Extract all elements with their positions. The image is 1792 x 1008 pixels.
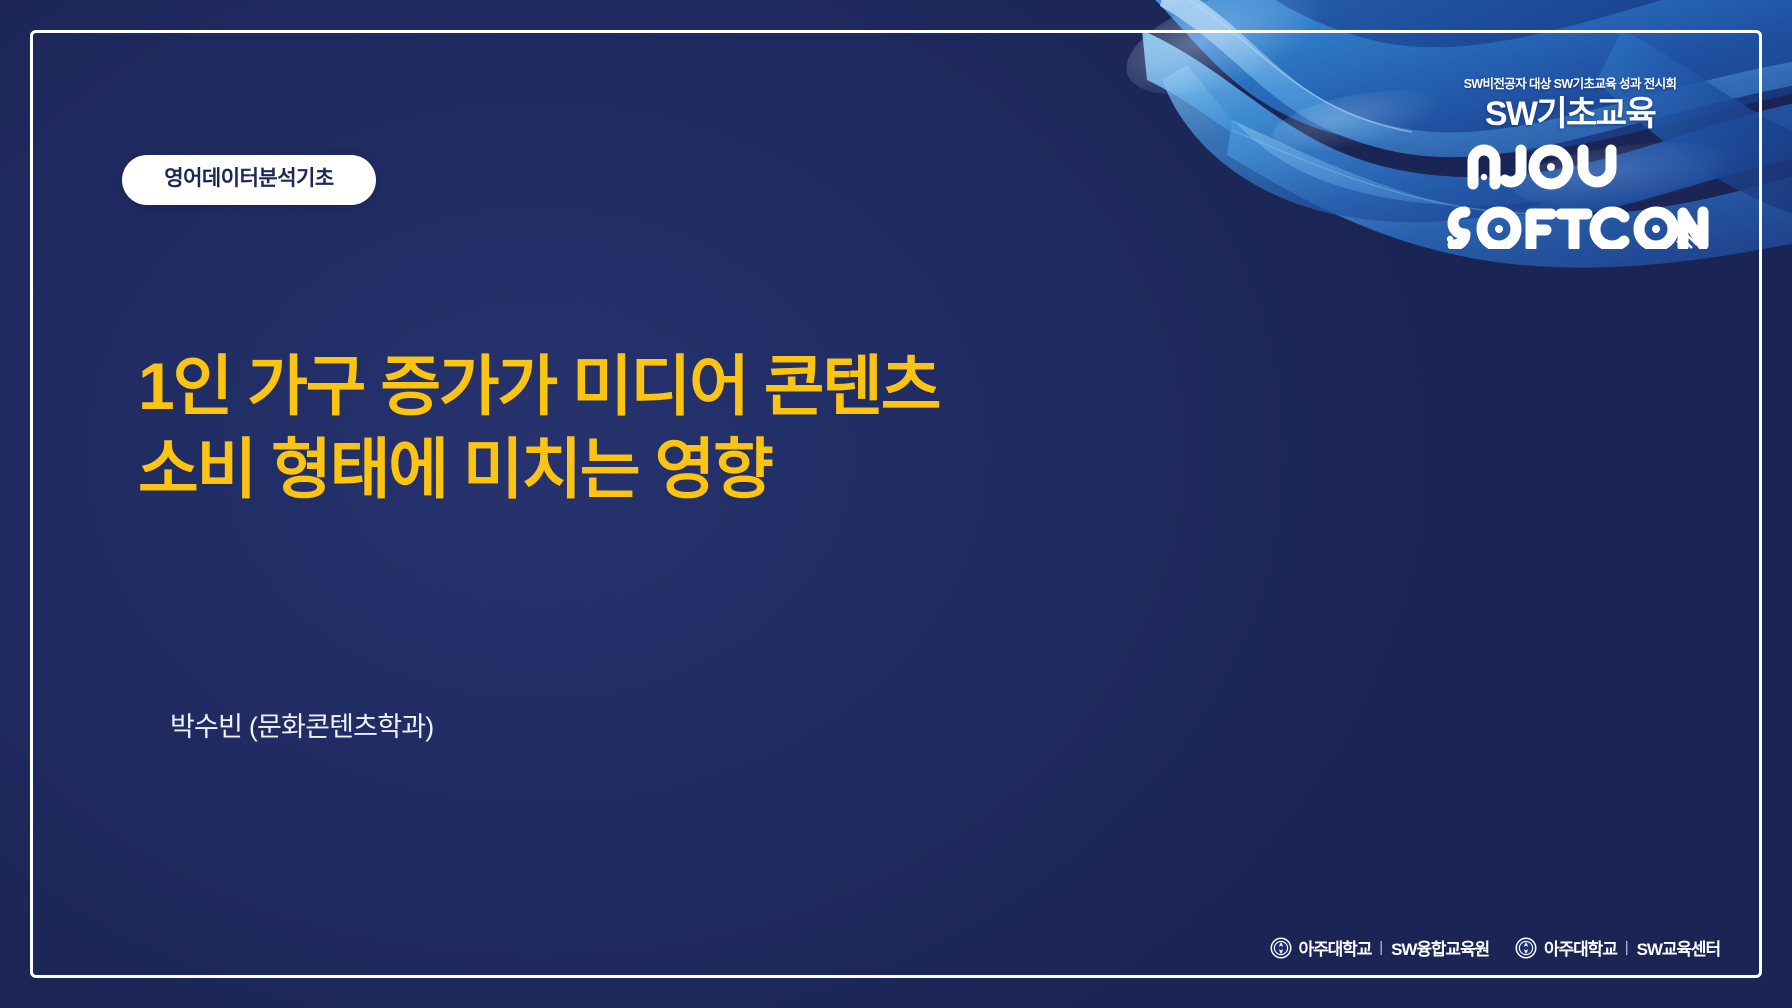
- title-line-2: 소비 형태에 미치는 영향: [138, 428, 1288, 511]
- partner-university-name: 아주대학교: [1299, 935, 1372, 960]
- partner-unit-name: SW융합교육원: [1391, 935, 1489, 960]
- partner-university-name: 아주대학교: [1544, 935, 1617, 960]
- course-name-label: 영어데이터분석기초: [152, 168, 346, 189]
- event-program-name: SW기초교육: [1420, 97, 1720, 133]
- ajou-softcon-wordmark: [1420, 134, 1720, 249]
- author-name: 박수빈 (문화콘텐츠학과): [170, 705, 433, 744]
- wordmark-graphic: [1425, 134, 1715, 249]
- ajou-university-crest-icon: [1270, 937, 1292, 959]
- presentation-slide: 영어데이터분석기초 1인 가구 증가가 미디어 콘텐츠 소비 형태에 미치는 영…: [0, 0, 1792, 1008]
- partner-logo-sw-education-center: 아주대학교 | SW교육센터: [1515, 935, 1720, 960]
- partner-separator: |: [1625, 939, 1629, 956]
- page-title: 1인 가구 증가가 미디어 콘텐츠 소비 형태에 미치는 영향: [138, 345, 1288, 511]
- softcon-logo-lockup: SW비전공자 대상 SW기초교육 성과 전시회 SW기초교육: [1420, 78, 1720, 249]
- course-name-badge: 영어데이터분석기초: [122, 155, 376, 205]
- event-tagline: SW비전공자 대상 SW기초교육 성과 전시회: [1420, 78, 1720, 92]
- footer-partner-logos: 아주대학교 | SW융합교육원 아주대학교 | SW교육센터: [1270, 935, 1720, 960]
- partner-logo-sw-convergence: 아주대학교 | SW융합교육원: [1270, 935, 1490, 960]
- title-line-1: 1인 가구 증가가 미디어 콘텐츠: [138, 345, 1288, 428]
- partner-unit-name: SW교육센터: [1637, 935, 1720, 960]
- ajou-university-crest-icon: [1515, 937, 1537, 959]
- partner-separator: |: [1379, 939, 1383, 956]
